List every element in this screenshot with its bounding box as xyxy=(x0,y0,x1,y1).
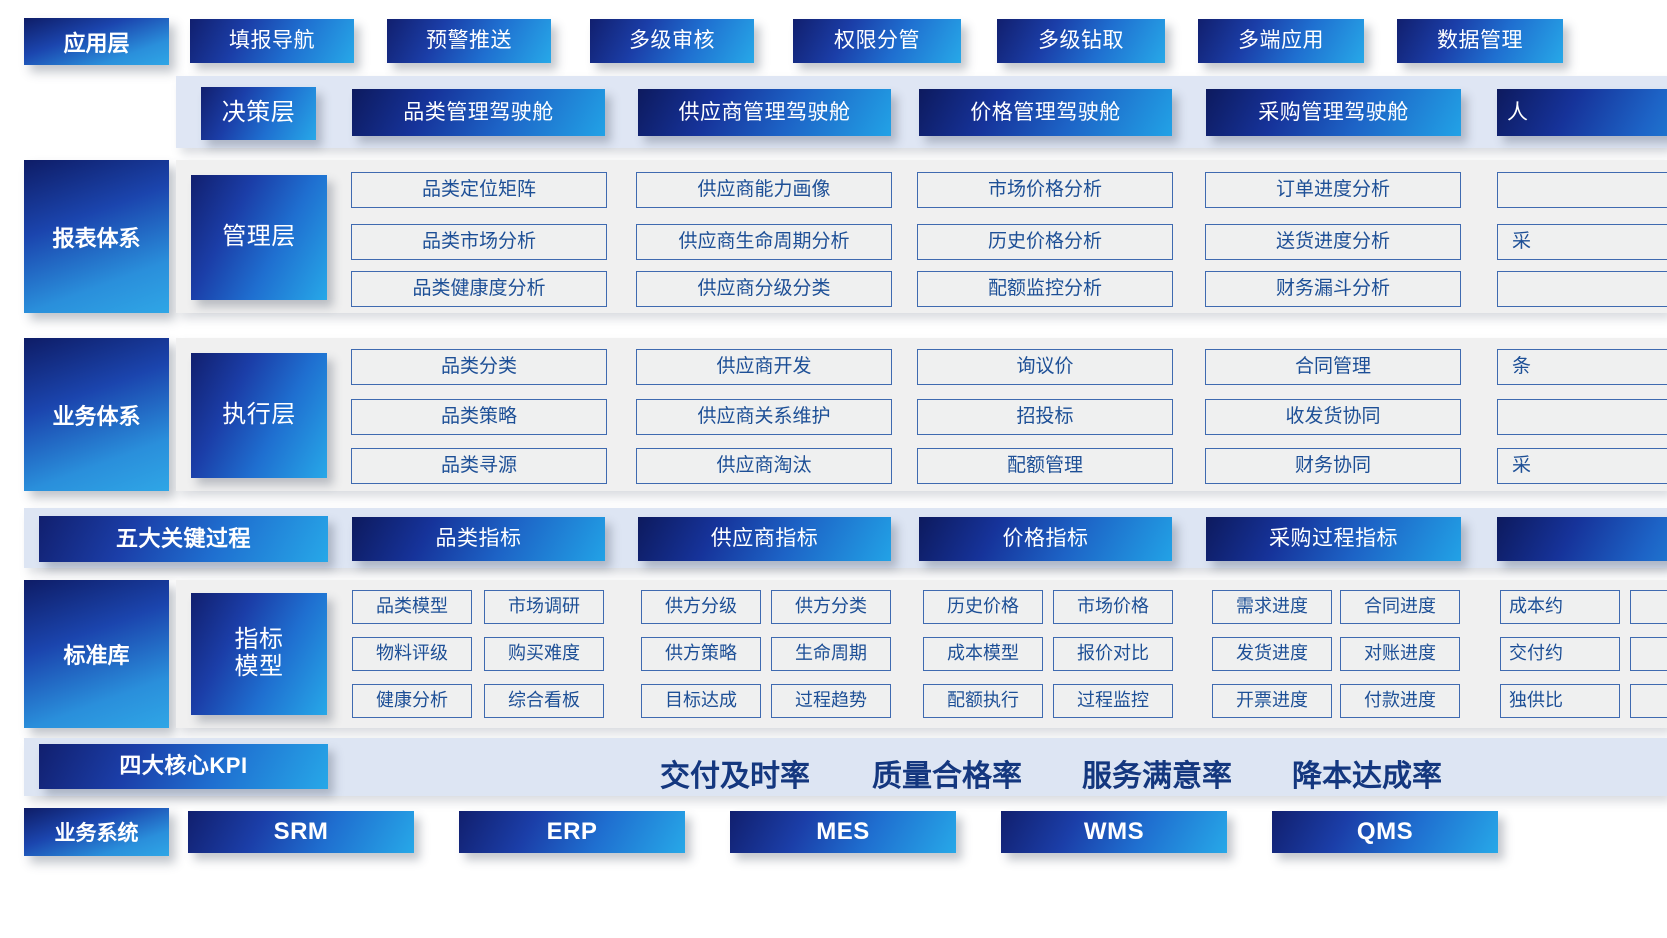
std-cell-2-5-label: 过程监控 xyxy=(1077,691,1149,711)
std-cell-3-2[interactable]: 发货进度 xyxy=(1212,637,1332,671)
std-cell-1-2-label: 供方策略 xyxy=(665,644,737,664)
key-processes-chip[interactable]: 五大关键过程 xyxy=(39,516,328,562)
std-cell-3-3-label: 对账进度 xyxy=(1364,644,1436,664)
app-item-1[interactable]: 预警推送 xyxy=(387,19,551,63)
spine-report-system-label: 报表体系 xyxy=(52,221,140,253)
key-process-item-3-label: 采购过程指标 xyxy=(1269,527,1398,551)
system-item-1[interactable]: ERP xyxy=(459,811,685,853)
std-cell-0-1[interactable]: 市场调研 xyxy=(484,590,604,624)
std-cell-3-1[interactable]: 合同进度 xyxy=(1340,590,1460,624)
kpi-word-0-label: 交付及时率 xyxy=(660,760,810,793)
std-cell-3-0-label: 需求进度 xyxy=(1236,597,1308,617)
report-sublayer-label: 管理层 xyxy=(222,224,296,251)
std-cell-2-1[interactable]: 市场价格 xyxy=(1053,590,1173,624)
report-cell-0-1[interactable]: 品类市场分析 xyxy=(351,224,607,260)
report-cell-4-1-label: 采 xyxy=(1512,232,1531,253)
app-item-0[interactable]: 填报导航 xyxy=(190,19,354,63)
report-sublayer-chip[interactable]: 管理层 xyxy=(191,175,327,300)
report-cell-4-0[interactable] xyxy=(1497,172,1667,208)
std-cell-0-5[interactable]: 综合看板 xyxy=(484,684,604,718)
report-cell-2-1[interactable]: 历史价格分析 xyxy=(917,224,1173,260)
report-cell-3-2[interactable]: 财务漏斗分析 xyxy=(1205,271,1461,307)
decision-item-2[interactable]: 价格管理驾驶舱 xyxy=(919,89,1172,136)
business-cell-0-1[interactable]: 品类策略 xyxy=(351,399,607,435)
system-item-1-label: ERP xyxy=(547,819,598,846)
std-cell-4-2[interactable]: 交付约 xyxy=(1500,637,1620,671)
report-cell-3-0[interactable]: 订单进度分析 xyxy=(1205,172,1461,208)
business-cell-4-2-label: 采 xyxy=(1512,456,1531,477)
std-cell-1-3[interactable]: 生命周期 xyxy=(771,637,891,671)
business-cell-0-0-label: 品类分类 xyxy=(441,357,517,378)
decision-item-0-label: 品类管理驾驶舱 xyxy=(403,101,554,125)
decision-item-3[interactable]: 采购管理驾驶舱 xyxy=(1206,89,1461,136)
key-process-item-0-label: 品类指标 xyxy=(436,527,522,551)
key-process-item-2[interactable]: 价格指标 xyxy=(919,517,1172,561)
std-cell-3-5[interactable]: 付款进度 xyxy=(1340,684,1460,718)
std-cell-4-0[interactable]: 成本约 xyxy=(1500,590,1620,624)
indicator-model-label: 指标 模型 xyxy=(235,627,284,681)
std-cell-3-1-label: 合同进度 xyxy=(1364,597,1436,617)
std-cell-3-5-label: 付款进度 xyxy=(1364,691,1436,711)
report-cell-1-0-label: 供应商能力画像 xyxy=(697,180,830,201)
key-process-item-4[interactable] xyxy=(1497,517,1667,561)
business-cell-4-2[interactable]: 采 xyxy=(1497,448,1667,484)
std-cell-0-5-label: 综合看板 xyxy=(508,691,580,711)
spine-standard-library-label: 标准库 xyxy=(63,638,129,670)
app-item-4[interactable]: 多级钻取 xyxy=(997,19,1165,63)
business-cell-3-1[interactable]: 收发货协同 xyxy=(1205,399,1461,435)
std-cell-4-0-label: 成本约 xyxy=(1509,597,1563,617)
key-process-item-0[interactable]: 品类指标 xyxy=(352,517,605,561)
business-cell-1-0-label: 供应商开发 xyxy=(716,357,811,378)
core-kpi-label: 四大核心KPI xyxy=(119,754,247,779)
std-cell-1-1[interactable]: 供方分类 xyxy=(771,590,891,624)
business-cell-1-2[interactable]: 供应商淘汰 xyxy=(636,448,892,484)
business-cell-0-0[interactable]: 品类分类 xyxy=(351,349,607,385)
system-item-4-label: QMS xyxy=(1357,819,1413,846)
std-cell-2-4-label: 配额执行 xyxy=(947,691,1019,711)
std-cell-0-0[interactable]: 品类模型 xyxy=(352,590,472,624)
key-process-item-3[interactable]: 采购过程指标 xyxy=(1206,517,1461,561)
std-cell-2-0-label: 历史价格 xyxy=(947,597,1019,617)
std-cell-4-3[interactable] xyxy=(1630,637,1667,671)
decision-item-1-label: 供应商管理驾驶舱 xyxy=(679,101,851,125)
report-cell-4-2[interactable] xyxy=(1497,271,1667,307)
std-cell-2-3-label: 报价对比 xyxy=(1077,644,1149,664)
std-cell-1-4[interactable]: 目标达成 xyxy=(641,684,761,718)
std-cell-2-1-label: 市场价格 xyxy=(1077,597,1149,617)
business-cell-3-1-label: 收发货协同 xyxy=(1285,407,1380,428)
std-cell-4-4[interactable]: 独供比 xyxy=(1500,684,1620,718)
business-cell-1-0[interactable]: 供应商开发 xyxy=(636,349,892,385)
kpi-word-1: 质量合格率 xyxy=(872,751,1022,795)
report-cell-0-1-label: 品类市场分析 xyxy=(422,232,536,253)
core-kpi-chip[interactable]: 四大核心KPI xyxy=(39,744,328,789)
std-cell-1-2[interactable]: 供方策略 xyxy=(641,637,761,671)
report-cell-3-0-label: 订单进度分析 xyxy=(1276,180,1390,201)
report-cell-2-1-label: 历史价格分析 xyxy=(988,232,1102,253)
report-cell-3-1[interactable]: 送货进度分析 xyxy=(1205,224,1461,260)
kpi-word-3-label: 降本达成率 xyxy=(1292,760,1442,793)
report-cell-0-2-label: 品类健康度分析 xyxy=(412,279,545,300)
spine-systems-label: 业务系统 xyxy=(55,817,139,847)
std-cell-1-3-label: 生命周期 xyxy=(795,644,867,664)
std-cell-0-0-label: 品类模型 xyxy=(376,597,448,617)
key-process-item-2-label: 价格指标 xyxy=(1003,527,1089,551)
std-cell-1-1-label: 供方分类 xyxy=(795,597,867,617)
app-item-2[interactable]: 多级审核 xyxy=(590,19,754,63)
app-item-5-label: 多端应用 xyxy=(1238,29,1324,53)
business-cell-3-2[interactable]: 财务协同 xyxy=(1205,448,1461,484)
business-sublayer-label: 执行层 xyxy=(222,402,296,429)
business-cell-2-1-label: 招投标 xyxy=(1016,407,1073,428)
std-cell-1-5-label: 过程趋势 xyxy=(795,691,867,711)
std-cell-2-4[interactable]: 配额执行 xyxy=(923,684,1043,718)
decision-item-4-label: 人 xyxy=(1507,101,1529,125)
decision-layer-chip[interactable]: 决策层 xyxy=(201,87,316,140)
std-cell-4-2-label: 交付约 xyxy=(1509,644,1563,664)
business-cell-2-2[interactable]: 配额管理 xyxy=(917,448,1173,484)
kpi-word-2: 服务满意率 xyxy=(1082,751,1232,795)
key-process-item-1-label: 供应商指标 xyxy=(711,527,819,551)
report-cell-3-1-label: 送货进度分析 xyxy=(1276,232,1390,253)
std-cell-2-2[interactable]: 成本模型 xyxy=(923,637,1043,671)
app-item-3-label: 权限分管 xyxy=(834,29,920,53)
report-cell-1-1-label: 供应商生命周期分析 xyxy=(678,232,849,253)
app-item-2-label: 多级审核 xyxy=(629,29,715,53)
std-cell-0-2-label: 物料评级 xyxy=(376,644,448,664)
std-cell-3-4-label: 开票进度 xyxy=(1236,691,1308,711)
spine-standard-library: 标准库 xyxy=(24,580,169,728)
spine-systems: 业务系统 xyxy=(24,808,169,856)
spine-business-system-label: 业务体系 xyxy=(52,399,140,431)
system-item-0-label: SRM xyxy=(274,819,329,846)
decision-layer-label: 决策层 xyxy=(222,100,296,127)
std-cell-3-4[interactable]: 开票进度 xyxy=(1212,684,1332,718)
indicator-model-chip[interactable]: 指标 模型 xyxy=(191,593,327,715)
key-processes-label: 五大关键过程 xyxy=(116,527,251,552)
business-cell-2-0-label: 询议价 xyxy=(1016,357,1073,378)
business-cell-2-1[interactable]: 招投标 xyxy=(917,399,1173,435)
report-cell-2-2[interactable]: 配额监控分析 xyxy=(917,271,1173,307)
app-item-1-label: 预警推送 xyxy=(426,29,512,53)
std-cell-0-4[interactable]: 健康分析 xyxy=(352,684,472,718)
std-cell-4-1[interactable] xyxy=(1630,590,1667,624)
report-cell-1-0[interactable]: 供应商能力画像 xyxy=(636,172,892,208)
app-item-5[interactable]: 多端应用 xyxy=(1198,19,1364,63)
kpi-word-2-label: 服务满意率 xyxy=(1082,760,1232,793)
decision-item-2-label: 价格管理驾驶舱 xyxy=(970,101,1121,125)
spine-application-layer: 应用层 xyxy=(24,18,169,65)
report-cell-2-0[interactable]: 市场价格分析 xyxy=(917,172,1173,208)
app-item-3[interactable]: 权限分管 xyxy=(793,19,961,63)
report-cell-3-2-label: 财务漏斗分析 xyxy=(1276,279,1390,300)
std-cell-3-3[interactable]: 对账进度 xyxy=(1340,637,1460,671)
decision-item-3-label: 采购管理驾驶舱 xyxy=(1258,101,1409,125)
std-cell-4-5[interactable] xyxy=(1630,684,1667,718)
spine-report-system: 报表体系 xyxy=(24,160,169,313)
business-cell-0-1-label: 品类策略 xyxy=(441,407,517,428)
std-cell-3-0[interactable]: 需求进度 xyxy=(1212,590,1332,624)
std-cell-3-2-label: 发货进度 xyxy=(1236,644,1308,664)
business-cell-4-0[interactable]: 条 xyxy=(1497,349,1667,385)
report-cell-1-2[interactable]: 供应商分级分类 xyxy=(636,271,892,307)
report-cell-0-2[interactable]: 品类健康度分析 xyxy=(351,271,607,307)
report-cell-1-1[interactable]: 供应商生命周期分析 xyxy=(636,224,892,260)
system-item-4[interactable]: QMS xyxy=(1272,811,1498,853)
app-item-0-label: 填报导航 xyxy=(229,29,315,53)
decision-item-1[interactable]: 供应商管理驾驶舱 xyxy=(638,89,891,136)
business-cell-2-2-label: 配额管理 xyxy=(1007,456,1083,477)
report-cell-2-0-label: 市场价格分析 xyxy=(988,180,1102,201)
business-cell-1-1[interactable]: 供应商关系维护 xyxy=(636,399,892,435)
business-sublayer-chip[interactable]: 执行层 xyxy=(191,353,327,478)
business-cell-0-2[interactable]: 品类寻源 xyxy=(351,448,607,484)
system-item-2[interactable]: MES xyxy=(730,811,956,853)
business-cell-0-2-label: 品类寻源 xyxy=(441,456,517,477)
report-cell-1-2-label: 供应商分级分类 xyxy=(697,279,830,300)
std-cell-4-4-label: 独供比 xyxy=(1509,691,1563,711)
business-cell-1-2-label: 供应商淘汰 xyxy=(716,456,811,477)
business-cell-1-1-label: 供应商关系维护 xyxy=(697,407,830,428)
std-cell-1-4-label: 目标达成 xyxy=(665,691,737,711)
business-cell-4-1[interactable] xyxy=(1497,399,1667,435)
system-item-2-label: MES xyxy=(816,819,870,846)
report-cell-2-2-label: 配额监控分析 xyxy=(988,279,1102,300)
std-cell-2-5[interactable]: 过程监控 xyxy=(1053,684,1173,718)
kpi-word-0: 交付及时率 xyxy=(660,751,810,795)
report-cell-4-1[interactable]: 采 xyxy=(1497,224,1667,260)
std-cell-1-5[interactable]: 过程趋势 xyxy=(771,684,891,718)
decision-item-4[interactable]: 人 xyxy=(1497,89,1667,136)
std-cell-1-0-label: 供方分级 xyxy=(665,597,737,617)
spine-application-layer-label: 应用层 xyxy=(63,26,129,58)
app-item-4-label: 多级钻取 xyxy=(1038,29,1124,53)
report-cell-0-0[interactable]: 品类定位矩阵 xyxy=(351,172,607,208)
key-process-item-1[interactable]: 供应商指标 xyxy=(638,517,891,561)
std-cell-0-2[interactable]: 物料评级 xyxy=(352,637,472,671)
business-cell-4-0-label: 条 xyxy=(1512,357,1531,378)
architecture-diagram: 应用层 填报导航 预警推送 多级审核 权限分管 多级钻取 多端应用 数据管理 决… xyxy=(0,0,1667,938)
kpi-word-3: 降本达成率 xyxy=(1292,751,1442,795)
kpi-word-1-label: 质量合格率 xyxy=(872,760,1022,793)
app-item-6-label: 数据管理 xyxy=(1437,29,1523,53)
report-cell-0-0-label: 品类定位矩阵 xyxy=(422,180,536,201)
app-item-6[interactable]: 数据管理 xyxy=(1397,19,1563,63)
std-cell-2-0[interactable]: 历史价格 xyxy=(923,590,1043,624)
std-cell-0-1-label: 市场调研 xyxy=(508,597,580,617)
decision-item-0[interactable]: 品类管理驾驶舱 xyxy=(352,89,605,136)
std-cell-2-2-label: 成本模型 xyxy=(947,644,1019,664)
std-cell-2-3[interactable]: 报价对比 xyxy=(1053,637,1173,671)
spine-business-system: 业务体系 xyxy=(24,338,169,491)
system-item-3[interactable]: WMS xyxy=(1001,811,1227,853)
std-cell-0-4-label: 健康分析 xyxy=(376,691,448,711)
system-item-0[interactable]: SRM xyxy=(188,811,414,853)
std-cell-0-3-label: 购买难度 xyxy=(508,644,580,664)
std-cell-0-3[interactable]: 购买难度 xyxy=(484,637,604,671)
business-cell-2-0[interactable]: 询议价 xyxy=(917,349,1173,385)
business-cell-3-2-label: 财务协同 xyxy=(1295,456,1371,477)
system-item-3-label: WMS xyxy=(1084,819,1144,846)
business-cell-3-0[interactable]: 合同管理 xyxy=(1205,349,1461,385)
business-cell-3-0-label: 合同管理 xyxy=(1295,357,1371,378)
std-cell-1-0[interactable]: 供方分级 xyxy=(641,590,761,624)
